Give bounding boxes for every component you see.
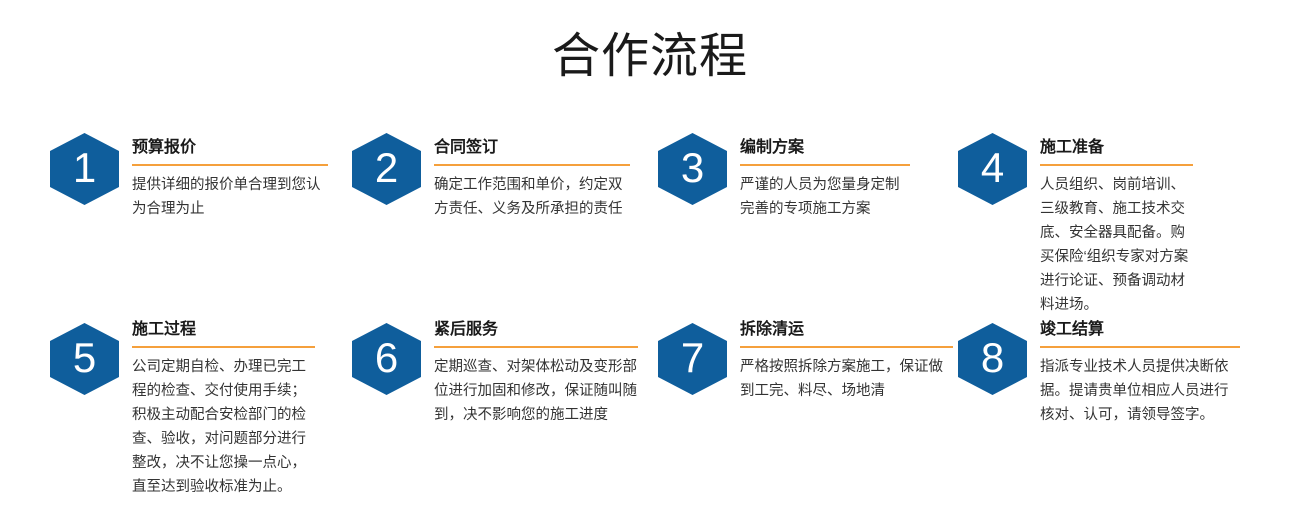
step-content: 施工过程 公司定期自检、办理已完工程的检查、交付使用手续；积极主动配合安检部门的… bbox=[132, 315, 315, 499]
step-content: 合同签订 确定工作范围和单价，约定双方责任、义务及所承担的责任 bbox=[434, 133, 630, 221]
process-step-7: 7 拆除清运 严格按照拆除方案施工，保证做到工完、料尽、场地清 bbox=[658, 315, 953, 403]
step-title: 预算报价 bbox=[132, 137, 328, 159]
step-number: 2 bbox=[375, 147, 398, 189]
step-title-underline bbox=[1040, 346, 1240, 348]
step-number-badge: 4 bbox=[958, 133, 1027, 205]
step-description: 确定工作范围和单价，约定双方责任、义务及所承担的责任 bbox=[434, 173, 630, 221]
step-title: 合同签订 bbox=[434, 137, 630, 159]
step-content: 拆除清运 严格按照拆除方案施工，保证做到工完、料尽、场地清 bbox=[740, 315, 953, 403]
step-title-underline bbox=[434, 346, 638, 348]
process-step-3: 3 编制方案 严谨的人员为您量身定制完善的专项施工方案 bbox=[658, 133, 910, 221]
step-number-badge: 8 bbox=[958, 323, 1027, 395]
process-step-5: 5 施工过程 公司定期自检、办理已完工程的检查、交付使用手续；积极主动配合安检部… bbox=[50, 315, 315, 499]
step-description: 人员组织、岗前培训、三级教育、施工技术交底、安全器具配备。购买保险‘组织专家对方… bbox=[1040, 173, 1193, 317]
step-content: 编制方案 严谨的人员为您量身定制完善的专项施工方案 bbox=[740, 133, 910, 221]
process-step-8: 8 竣工结算 指派专业技术人员提供决断依据。提请贵单位相应人员进行核对、认可，请… bbox=[958, 315, 1240, 427]
step-number-badge: 1 bbox=[50, 133, 119, 205]
step-content: 施工准备 人员组织、岗前培训、三级教育、施工技术交底、安全器具配备。购买保险‘组… bbox=[1040, 133, 1193, 317]
process-steps: 1 预算报价 提供详细的报价单合理到您认为合理为止 2 合同签订 确定工作范围和… bbox=[0, 133, 1300, 513]
step-number-badge: 6 bbox=[352, 323, 421, 395]
step-title-underline bbox=[740, 346, 953, 348]
step-number: 3 bbox=[681, 147, 704, 189]
step-title-underline bbox=[740, 164, 910, 166]
process-step-6: 6 紧后服务 定期巡查、对架体松动及变形部位进行加固和修改，保证随叫随到，决不影… bbox=[352, 315, 638, 427]
step-number: 8 bbox=[981, 337, 1004, 379]
step-title: 紧后服务 bbox=[434, 319, 638, 341]
process-step-2: 2 合同签订 确定工作范围和单价，约定双方责任、义务及所承担的责任 bbox=[352, 133, 630, 221]
step-description: 定期巡查、对架体松动及变形部位进行加固和修改，保证随叫随到，决不影响您的施工进度 bbox=[434, 355, 638, 427]
step-content: 紧后服务 定期巡查、对架体松动及变形部位进行加固和修改，保证随叫随到，决不影响您… bbox=[434, 315, 638, 427]
step-title: 编制方案 bbox=[740, 137, 910, 159]
step-description: 指派专业技术人员提供决断依据。提请贵单位相应人员进行核对、认可，请领导签字。 bbox=[1040, 355, 1240, 427]
page-title: 合作流程 bbox=[0, 27, 1300, 87]
step-number: 4 bbox=[981, 147, 1004, 189]
process-step-4: 4 施工准备 人员组织、岗前培训、三级教育、施工技术交底、安全器具配备。购买保险… bbox=[958, 133, 1193, 317]
step-description: 严格按照拆除方案施工，保证做到工完、料尽、场地清 bbox=[740, 355, 953, 403]
step-number: 6 bbox=[375, 337, 398, 379]
step-content: 竣工结算 指派专业技术人员提供决断依据。提请贵单位相应人员进行核对、认可，请领导… bbox=[1040, 315, 1240, 427]
step-number-badge: 7 bbox=[658, 323, 727, 395]
step-title-underline bbox=[132, 346, 315, 348]
step-number: 5 bbox=[73, 337, 96, 379]
step-description: 公司定期自检、办理已完工程的检查、交付使用手续；积极主动配合安检部门的检查、验收… bbox=[132, 355, 315, 499]
step-content: 预算报价 提供详细的报价单合理到您认为合理为止 bbox=[132, 133, 328, 221]
step-title: 竣工结算 bbox=[1040, 319, 1240, 341]
step-number: 7 bbox=[681, 337, 704, 379]
step-number-badge: 5 bbox=[50, 323, 119, 395]
step-number-badge: 3 bbox=[658, 133, 727, 205]
step-title: 拆除清运 bbox=[740, 319, 953, 341]
step-title: 施工准备 bbox=[1040, 137, 1193, 159]
step-title: 施工过程 bbox=[132, 319, 315, 341]
step-number-badge: 2 bbox=[352, 133, 421, 205]
process-step-1: 1 预算报价 提供详细的报价单合理到您认为合理为止 bbox=[50, 133, 328, 221]
step-title-underline bbox=[132, 164, 328, 166]
step-title-underline bbox=[434, 164, 630, 166]
step-title-underline bbox=[1040, 164, 1193, 166]
step-description: 提供详细的报价单合理到您认为合理为止 bbox=[132, 173, 328, 221]
step-number: 1 bbox=[73, 147, 96, 189]
step-description: 严谨的人员为您量身定制完善的专项施工方案 bbox=[740, 173, 910, 221]
